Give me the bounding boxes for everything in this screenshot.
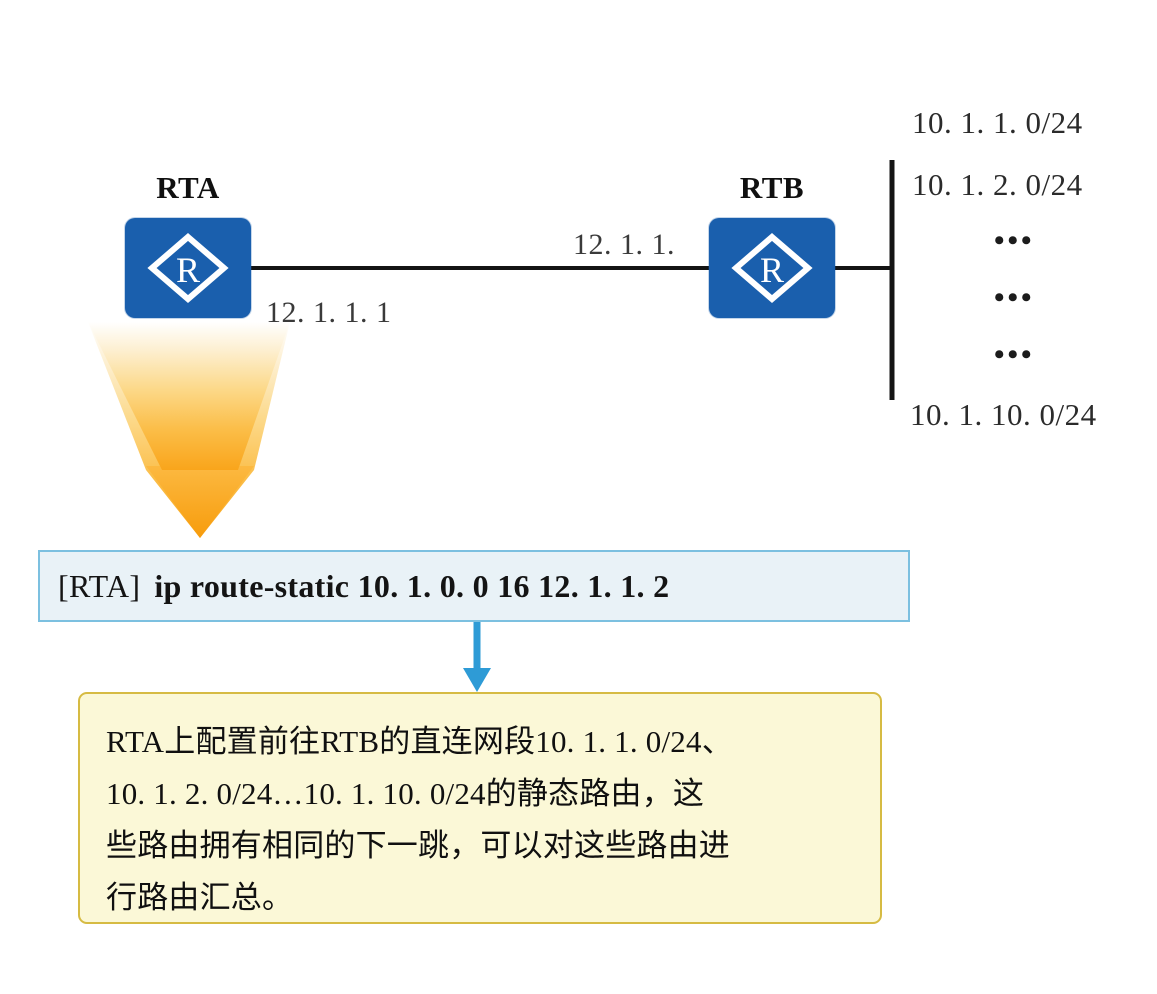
interface-label-rtb-ip: 12. 1. 1. bbox=[573, 228, 675, 262]
network-label-1: 10. 1. 1. 0/24 bbox=[912, 105, 1083, 141]
orange-funnel-arrow bbox=[88, 322, 290, 538]
note-line-3: 些路由拥有相同的下一跳，可以对这些路由进 bbox=[106, 820, 856, 872]
blue-down-arrow bbox=[463, 622, 491, 692]
node-rtb[interactable]: R bbox=[709, 218, 835, 318]
network-ellipsis-1: ••• bbox=[994, 224, 1035, 258]
command-prompt: [RTA] bbox=[58, 568, 140, 605]
network-label-2: 10. 1. 2. 0/24 bbox=[912, 167, 1083, 203]
network-ellipsis-3: ••• bbox=[994, 338, 1035, 372]
node-label-rtb: RTB bbox=[709, 170, 835, 206]
interface-label-rta-ip: 12. 1. 1. 1 bbox=[266, 296, 392, 330]
network-ellipsis-2: ••• bbox=[994, 281, 1035, 315]
command-box[interactable]: [RTA] ip route-static 10. 1. 0. 0 16 12.… bbox=[38, 550, 910, 622]
router-icon-rta: R bbox=[125, 218, 251, 318]
note-line-1: RTA上配置前往RTB的直连网段10. 1. 1. 0/24、 bbox=[106, 716, 856, 768]
svg-text:R: R bbox=[760, 250, 784, 290]
svg-text:R: R bbox=[176, 250, 200, 290]
note-line-4: 行路由汇总。 bbox=[106, 872, 856, 924]
command-body: ip route-static 10. 1. 0. 0 16 12. 1. 1.… bbox=[154, 568, 669, 605]
explanation-note-box: RTA上配置前往RTB的直连网段10. 1. 1. 0/24、 10. 1. 2… bbox=[78, 692, 882, 924]
network-label-last: 10. 1. 10. 0/24 bbox=[910, 397, 1097, 433]
node-label-rta: RTA bbox=[125, 170, 251, 206]
note-line-2: 10. 1. 2. 0/24…10. 1. 10. 0/24的静态路由，这 bbox=[106, 768, 856, 820]
node-rta[interactable]: R bbox=[125, 218, 251, 318]
router-icon-rtb: R bbox=[709, 218, 835, 318]
